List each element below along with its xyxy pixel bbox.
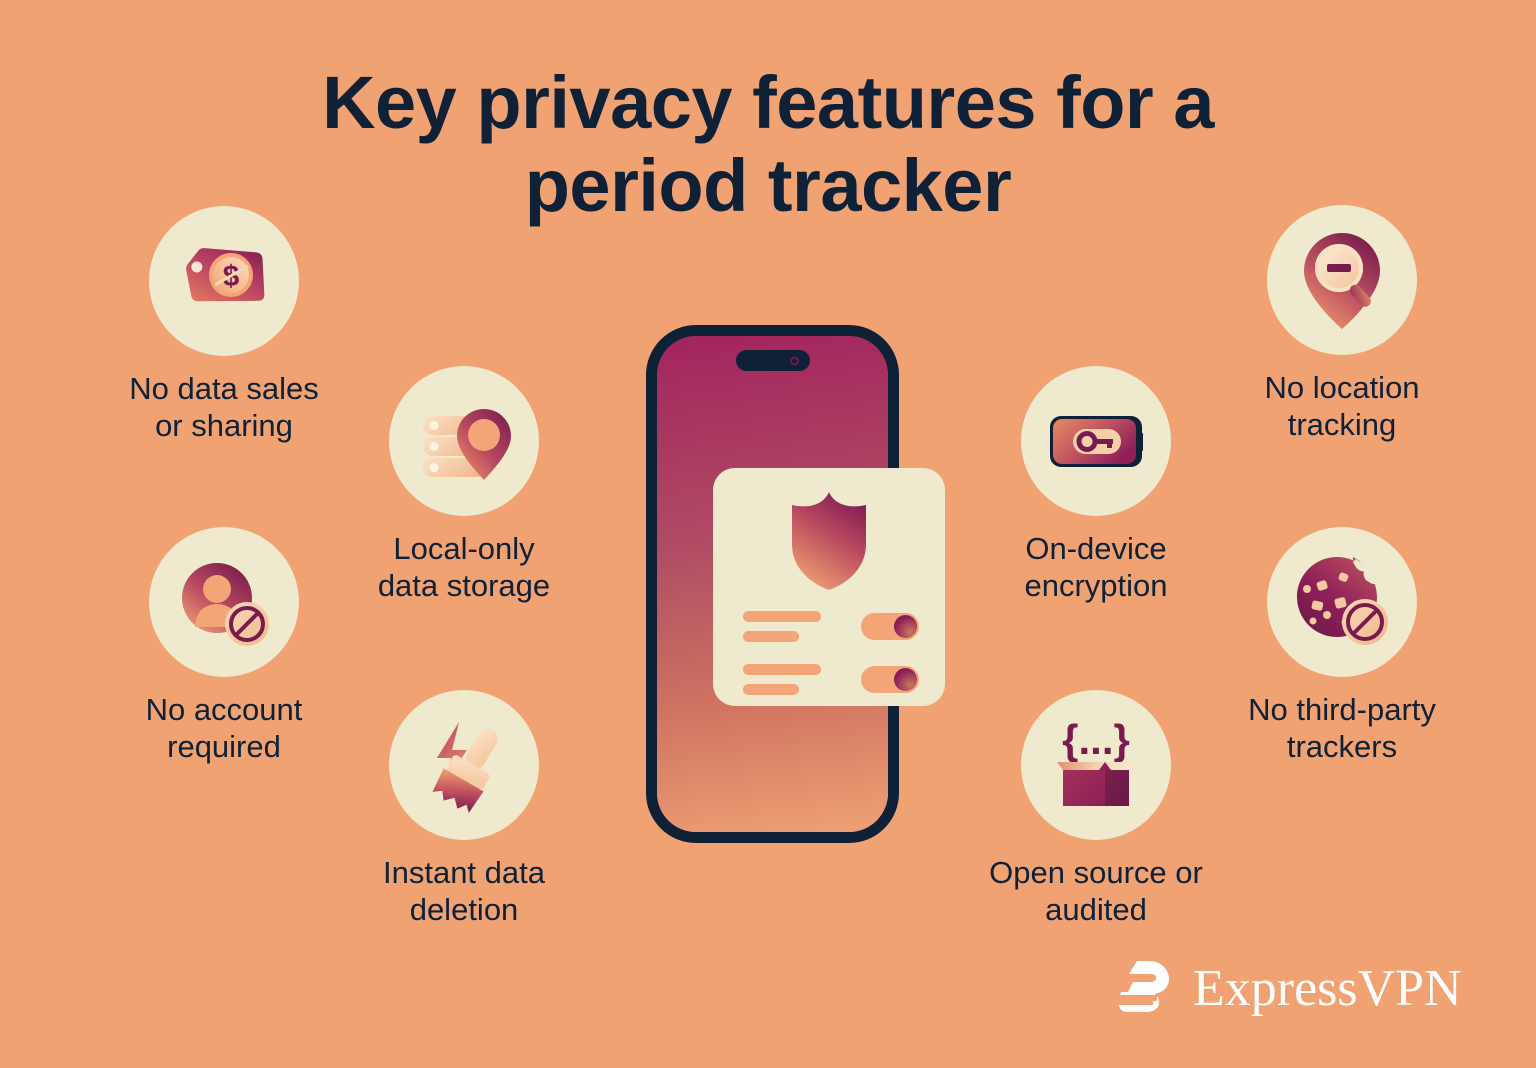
feature-open-source-audited: {...} Open source or audited xyxy=(950,690,1242,928)
text-line-secondary xyxy=(743,684,799,695)
database-location-pin-icon xyxy=(389,366,539,516)
page-title: Key privacy features for a period tracke… xyxy=(0,62,1536,228)
user-blocked-icon xyxy=(149,527,299,677)
expressvpn-wordmark: ExpressVPN xyxy=(1193,963,1462,1015)
text-line-primary xyxy=(743,611,821,622)
svg-text:{...}: {...} xyxy=(1062,716,1130,763)
toggle-knob xyxy=(894,615,917,638)
text-line-secondary xyxy=(743,631,799,642)
feature-label: Open source or audited xyxy=(950,854,1242,928)
feature-label: Instant data deletion xyxy=(318,854,610,928)
toggle-knob xyxy=(894,668,917,691)
location-pin-magnifier-minus-icon xyxy=(1267,205,1417,355)
privacy-settings-card xyxy=(713,468,945,706)
expressvpn-e-logo-icon xyxy=(1113,955,1175,1022)
cookie-blocked-icon xyxy=(1267,527,1417,677)
dynamic-island xyxy=(736,350,810,371)
shield-icon xyxy=(786,488,872,597)
expressvpn-logo: ExpressVPN xyxy=(1113,955,1462,1022)
price-tag-dollar-icon: $ xyxy=(149,206,299,356)
brush-lightning-icon xyxy=(389,690,539,840)
camera-icon xyxy=(790,356,799,365)
phone-key-icon xyxy=(1021,366,1171,516)
feature-instant-data-deletion: Instant data deletion xyxy=(318,690,610,928)
title-line-1: Key privacy features for a xyxy=(322,61,1214,144)
privacy-toggle-1[interactable] xyxy=(861,613,919,640)
infographic-canvas: Key privacy features for a period tracke… xyxy=(0,0,1536,1068)
card-setting-row xyxy=(743,611,919,642)
setting-text-placeholder xyxy=(743,611,821,642)
privacy-toggle-2[interactable] xyxy=(861,666,919,693)
card-setting-row xyxy=(743,664,919,695)
text-line-primary xyxy=(743,664,821,675)
setting-text-placeholder xyxy=(743,664,821,695)
title-line-2: period tracker xyxy=(525,144,1012,227)
open-box-code-braces-icon: {...} xyxy=(1021,690,1171,840)
